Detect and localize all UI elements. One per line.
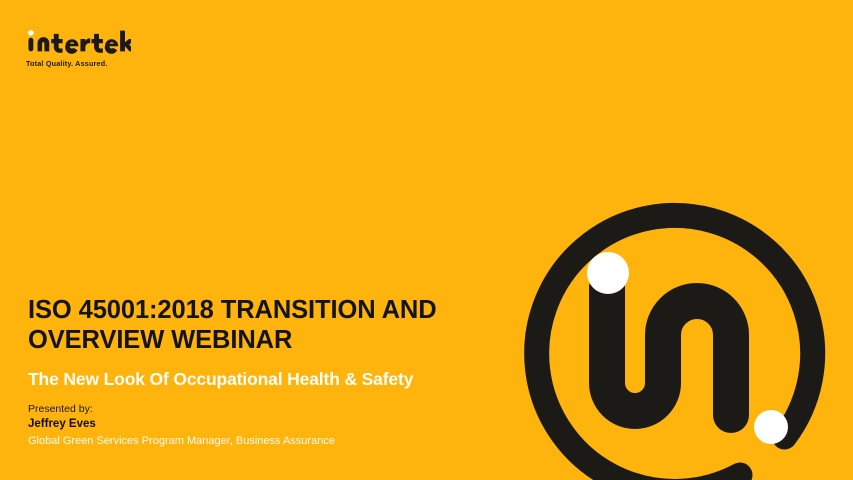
logo-mark-dot-bottom-icon xyxy=(754,410,788,444)
logo-mark-dot-top-icon xyxy=(587,252,629,294)
presenter-role: Global Green Services Program Manager, B… xyxy=(28,434,498,449)
page-title: ISO 45001:2018 TRANSITION AND OVERVIEW W… xyxy=(28,296,498,356)
intertek-logo: Total Quality. Assured. xyxy=(26,28,236,78)
intertek-wordmark-icon xyxy=(26,28,131,54)
presented-by-label: Presented by: xyxy=(28,402,498,416)
webinar-title-slide: Total Quality. Assured. ISO 45001:2018 T… xyxy=(0,0,853,480)
slide-subtitle: The New Look Of Occupational Health & Sa… xyxy=(28,369,498,390)
presenter-name: Jeffrey Eves xyxy=(28,417,498,433)
intertek-mark-icon xyxy=(487,165,847,480)
brand-tagline: Total Quality. Assured. xyxy=(26,59,236,68)
logo-monogram-icon xyxy=(607,287,731,415)
slide-text-block: ISO 45001:2018 TRANSITION AND OVERVIEW W… xyxy=(28,296,498,449)
presenter-block: Presented by: Jeffrey Eves Global Green … xyxy=(28,402,498,449)
logo-ring-icon xyxy=(537,215,813,480)
logo-i-dot-icon xyxy=(28,30,34,36)
